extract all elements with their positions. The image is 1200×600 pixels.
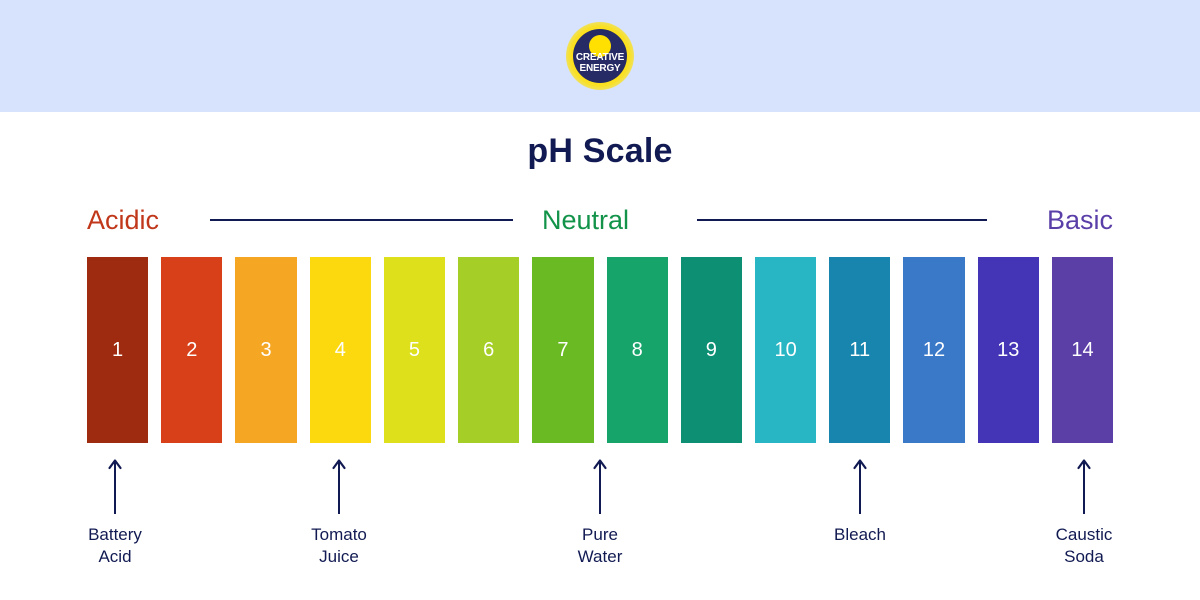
ph-callouts: Battery AcidTomato JuicePure WaterBleach… [0, 443, 1200, 600]
ph-bar-number: 14 [1071, 340, 1093, 360]
ph-scale-bars: 1234567891011121314 [87, 257, 1113, 443]
logo-wordmark-line2: ENERGY [566, 64, 634, 75]
creative-energy-logo: CREATIVE ENERGY [566, 22, 634, 90]
category-rule-right [697, 219, 987, 221]
ph-bar[interactable]: 4 [310, 257, 371, 443]
category-label-neutral: Neutral [542, 200, 629, 240]
ph-bar[interactable]: 2 [161, 257, 222, 443]
logo-wordmark-line1: CREATIVE [566, 53, 634, 64]
up-arrow-icon [1076, 458, 1092, 514]
logo-wordmark: CREATIVE ENERGY [566, 53, 634, 74]
page-title: pH Scale [0, 132, 1200, 171]
ph-bar[interactable]: 3 [235, 257, 296, 443]
ph-callout: Tomato Juice [259, 443, 419, 568]
category-label-basic: Basic [1047, 200, 1113, 240]
ph-bar-number: 4 [335, 340, 346, 360]
ph-bar[interactable]: 8 [607, 257, 668, 443]
up-arrow-icon [592, 458, 608, 514]
ph-callout-label: Tomato Juice [259, 524, 419, 568]
ph-bar[interactable]: 5 [384, 257, 445, 443]
ph-bar-number: 9 [706, 340, 717, 360]
ph-bar-number: 13 [997, 340, 1019, 360]
ph-bar[interactable]: 13 [978, 257, 1039, 443]
ph-bar[interactable]: 11 [829, 257, 890, 443]
ph-bar-number: 11 [849, 340, 870, 360]
ph-bar[interactable]: 9 [681, 257, 742, 443]
ph-bar[interactable]: 6 [458, 257, 519, 443]
ph-bar-number: 1 [112, 340, 123, 360]
category-row: Acidic Neutral Basic [87, 200, 1113, 240]
ph-callout-label: Pure Water [520, 524, 680, 568]
ph-callout-label: Caustic Soda [1004, 524, 1164, 568]
up-arrow-icon [107, 458, 123, 514]
ph-callout-label: Battery Acid [35, 524, 195, 568]
ph-callout: Battery Acid [35, 443, 195, 568]
ph-bar[interactable]: 10 [755, 257, 816, 443]
ph-bar-number: 7 [557, 340, 568, 360]
ph-bar[interactable]: 12 [903, 257, 964, 443]
up-arrow-icon [852, 458, 868, 514]
ph-bar[interactable]: 1 [87, 257, 148, 443]
category-label-acidic: Acidic [87, 200, 159, 240]
ph-callout: Caustic Soda [1004, 443, 1164, 568]
up-arrow-icon [331, 458, 347, 514]
ph-bar-number: 6 [483, 340, 494, 360]
ph-bar-number: 2 [186, 340, 197, 360]
ph-bar[interactable]: 14 [1052, 257, 1113, 443]
ph-bar-number: 8 [632, 340, 643, 360]
ph-bar-number: 3 [260, 340, 271, 360]
ph-bar-number: 10 [774, 340, 796, 360]
ph-bar-number: 5 [409, 340, 420, 360]
ph-callout: Pure Water [520, 443, 680, 568]
category-rule-left [210, 219, 513, 221]
ph-callout: Bleach [780, 443, 940, 546]
header-band: CREATIVE ENERGY [0, 0, 1200, 112]
ph-bar-number: 12 [923, 340, 945, 360]
ph-callout-label: Bleach [780, 524, 940, 546]
ph-bar[interactable]: 7 [532, 257, 593, 443]
